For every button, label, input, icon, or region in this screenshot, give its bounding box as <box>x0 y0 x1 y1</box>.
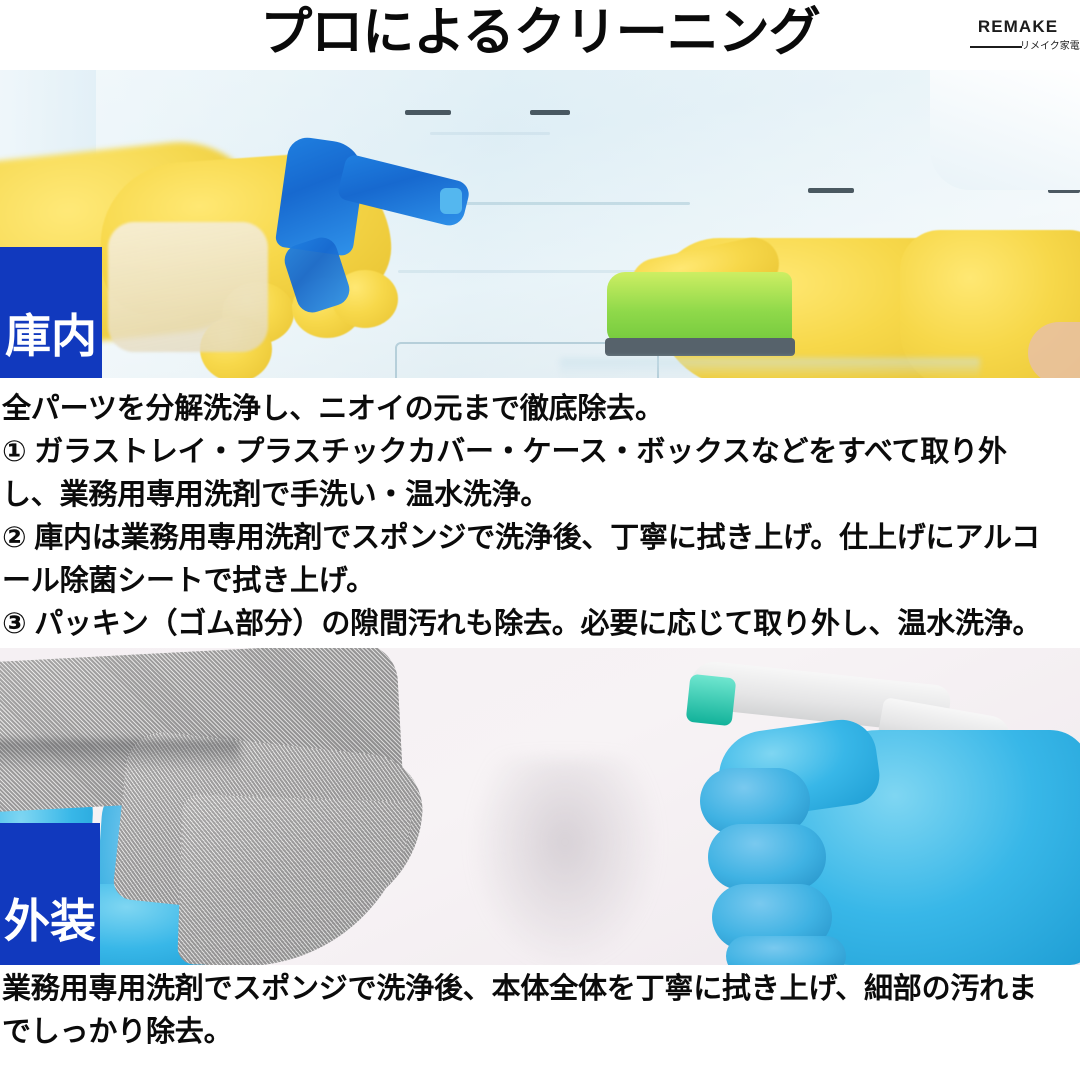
spray-nozzle-tip <box>440 188 462 214</box>
photo-exterior-cleaning <box>0 648 1080 965</box>
infographic-page: プロによるクリーニング REMAKE リメイク家電 <box>0 0 1080 1080</box>
badge-exterior: 外装 <box>0 823 100 965</box>
fridge-shelf-clip <box>530 110 570 115</box>
fridge-surface-reflection <box>560 358 980 378</box>
background-shadow <box>470 758 660 965</box>
interior-line-5: ール除菌シートで拭き上げ。 <box>2 560 1080 603</box>
interior-line-2: ① ガラストレイ・プラスチックカバー・ケース・ボックスなどをすべて取り外 <box>2 431 1080 474</box>
fridge-shelf-clip <box>405 110 451 115</box>
badge-interior: 庫内 <box>0 247 102 378</box>
header: プロによるクリーニング REMAKE リメイク家電 <box>0 0 1080 70</box>
photo-interior-cleaning <box>0 70 1080 378</box>
interior-description: 全パーツを分解洗浄し、ニオイの元まで徹底除去。 ① ガラストレイ・プラスチックカ… <box>2 388 1080 646</box>
spray-bottle-body <box>108 222 268 352</box>
spray-bottle-nozzle-cap <box>686 674 737 727</box>
skin-wrist <box>1028 322 1080 378</box>
interior-line-6: ③ パッキン（ゴム部分）の隙間汚れも除去。必要に応じて取り外し、温水洗浄。 <box>2 603 1080 646</box>
page-title: プロによるクリーニング <box>0 0 1080 70</box>
logo-subtitle: リメイク家電 <box>1020 39 1072 55</box>
towel-shadow <box>0 740 240 770</box>
exterior-description: 業務用専用洗剤でスポンジで洗浄後、本体全体を丁寧に拭き上げ、細部の汚れま でしっ… <box>2 968 1080 1054</box>
fridge-shelf-clip <box>808 188 854 193</box>
exterior-line-1: 業務用専用洗剤でスポンジで洗浄後、本体全体を丁寧に拭き上げ、細部の汚れま <box>2 968 1080 1011</box>
sponge-scrub-pad <box>605 338 795 356</box>
remake-logo: REMAKE リメイク家電 <box>968 6 1072 60</box>
fridge-right-panel <box>930 70 1080 190</box>
interior-line-4: ② 庫内は業務用専用洗剤でスポンジで洗浄後、丁寧に拭き上げ。仕上げにアルコ <box>2 517 1080 560</box>
fridge-shelf-edge <box>430 132 550 135</box>
exterior-line-2: でしっかり除去。 <box>2 1011 1080 1054</box>
interior-line-1: 全パーツを分解洗浄し、ニオイの元まで徹底除去。 <box>2 388 1080 431</box>
logo-underline-icon <box>970 46 1022 48</box>
blue-glove-finger <box>726 936 846 965</box>
interior-line-3: し、業務用専用洗剤で手洗い・温水洗浄。 <box>2 474 1080 517</box>
blue-glove-finger <box>708 824 826 890</box>
green-sponge <box>607 272 792 344</box>
